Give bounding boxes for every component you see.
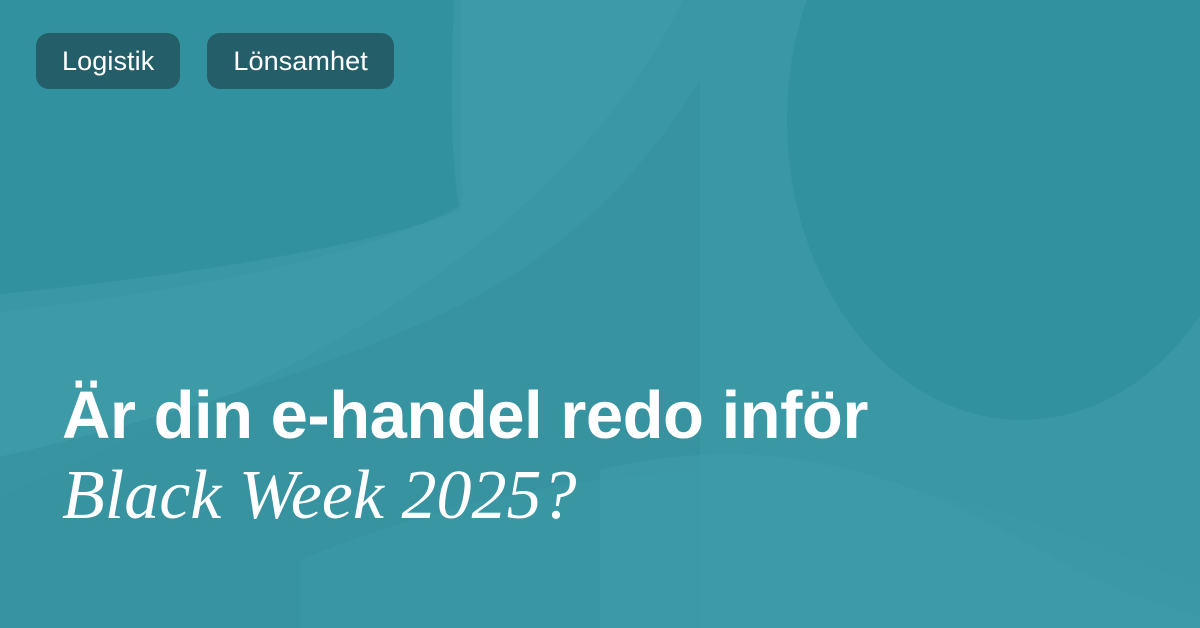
card-headline: Är din e-handel redo inför Black Week 20… [62, 377, 868, 537]
tag-pill-logistik[interactable]: Logistik [36, 33, 180, 89]
tag-list: Logistik Lönsamhet [36, 33, 394, 89]
tag-pill-lonsamhet[interactable]: Lönsamhet [207, 33, 394, 89]
headline-line-1: Är din e-handel redo inför [62, 377, 868, 455]
social-share-card: Logistik Lönsamhet Är din e-handel redo … [0, 0, 1200, 628]
headline-line-2: Black Week 2025? [62, 455, 868, 537]
